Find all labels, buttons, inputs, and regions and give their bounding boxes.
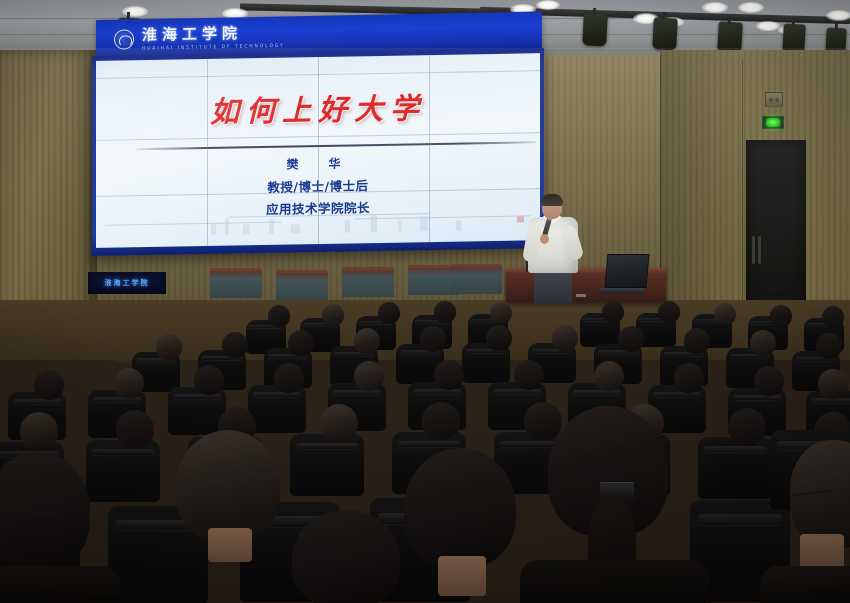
audience-neck — [208, 528, 252, 562]
audience-head — [618, 326, 644, 352]
stage-seat[interactable] — [450, 264, 502, 294]
audience-head — [288, 330, 314, 356]
audience-head — [658, 301, 680, 323]
led-video-wall: 如何上好大学 樊 华 教授/博士/博士后 应用技术学院院长 — [92, 48, 544, 256]
led-scrolling-sign: 淮海工学院 — [88, 272, 166, 294]
audience-head — [20, 412, 58, 450]
ceiling-downlight-icon — [122, 6, 148, 17]
institution-name-cn: 淮海工学院 — [142, 25, 285, 43]
ceiling-downlight-icon — [826, 10, 850, 21]
audience-head — [274, 363, 304, 393]
audience-seat[interactable] — [290, 434, 364, 496]
slide-corner-logo-icon — [517, 215, 524, 222]
audience-head — [594, 361, 624, 391]
audience-head — [524, 402, 562, 440]
audience-head — [222, 332, 248, 358]
audience-head — [320, 404, 358, 442]
slide-divider — [136, 141, 536, 150]
audience-head — [194, 365, 224, 395]
audience-head — [728, 408, 766, 446]
stage-seat[interactable] — [276, 270, 328, 300]
audience-head — [754, 366, 784, 396]
door-handle — [752, 236, 755, 264]
audience-head-foreground — [0, 452, 90, 570]
eyeglasses-icon — [543, 205, 561, 209]
stage-spotlight-icon — [717, 21, 743, 53]
exit-door[interactable] — [746, 140, 806, 310]
laptop-screen[interactable] — [605, 254, 650, 288]
audience-head — [490, 302, 512, 324]
auditorium-photo: 淮海工学院 HUAIHAI INSTITUTE OF TECHNOLOGY 如何… — [0, 0, 850, 603]
audience-head — [354, 361, 384, 391]
ceiling-downlight-icon — [536, 0, 560, 10]
audience-head — [514, 360, 544, 390]
audience-head — [486, 325, 512, 351]
stage-spotlight-icon — [582, 13, 608, 46]
university-seal-icon — [114, 29, 134, 49]
ceiling-downlight-icon — [702, 2, 728, 13]
audience-neck — [438, 556, 486, 596]
audience-head — [114, 368, 144, 398]
audience-shoulders — [0, 566, 120, 603]
door-handle — [758, 236, 761, 264]
audience-head — [770, 305, 792, 327]
led-sign-text: 淮海工学院 — [105, 278, 150, 288]
audience-head — [552, 325, 578, 351]
audience-head-foreground — [292, 510, 400, 603]
audience-head-foreground — [404, 448, 516, 568]
audience-head — [422, 402, 460, 440]
audience-seat[interactable] — [248, 385, 306, 433]
audience-head — [156, 334, 182, 360]
audience-head — [322, 304, 344, 326]
audience-head — [34, 370, 64, 400]
ceiling-downlight-icon — [738, 2, 764, 13]
presentation-slide: 如何上好大学 樊 华 教授/博士/博士后 应用技术学院院长 — [96, 53, 540, 248]
audience-head — [714, 303, 736, 325]
audience-head — [816, 333, 842, 359]
stage-spotlight-icon — [652, 17, 678, 50]
ceiling-downlight-icon — [756, 21, 780, 31]
audience-head-foreground — [176, 430, 280, 542]
laptop-icon[interactable] — [599, 288, 644, 294]
wall-speaker-icon — [765, 92, 783, 107]
audience-head — [268, 305, 290, 327]
audience-head — [818, 369, 848, 399]
audience-head — [420, 326, 446, 352]
institution-name-en: HUAIHAI INSTITUTE OF TECHNOLOGY — [142, 43, 285, 51]
stage-seat[interactable] — [342, 267, 394, 297]
running-man-exit-icon — [766, 118, 780, 127]
presenter-person — [524, 196, 582, 304]
audience-head — [434, 360, 464, 390]
audience-head — [750, 330, 776, 356]
audience-head — [674, 363, 704, 393]
audience-shoulders — [760, 566, 850, 603]
stage-seat[interactable] — [210, 268, 262, 298]
audience-head — [354, 328, 380, 354]
audience-head — [434, 301, 456, 323]
exit-sign — [762, 116, 784, 129]
audience-head — [684, 328, 710, 354]
audience-seat[interactable] — [698, 437, 772, 499]
audience-seat[interactable] — [86, 440, 160, 502]
audience-head — [378, 302, 400, 324]
audience-head — [602, 301, 624, 323]
audience-head — [116, 410, 154, 448]
audience-head — [822, 306, 844, 328]
audience-shoulders — [520, 560, 710, 603]
